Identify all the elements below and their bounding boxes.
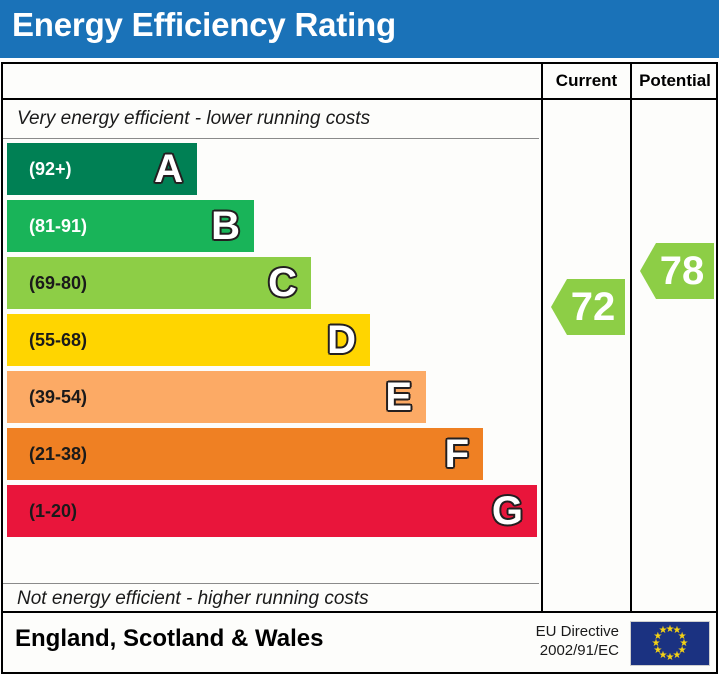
caption-rule-bottom (3, 583, 539, 584)
footer-directive: EU Directive 2002/91/EC (536, 622, 619, 660)
page-title: Energy Efficiency Rating (12, 6, 396, 44)
column-header-potential: Potential (630, 64, 718, 98)
caption-inefficient: Not energy efficient - higher running co… (17, 588, 369, 610)
eu-flag-icon: ★★★★★★★★★★★★ (630, 621, 710, 666)
column-divider-1 (541, 100, 543, 613)
band-range-f: (21-38) (29, 428, 87, 480)
band-letter-c: C (268, 263, 297, 303)
band-range-c: (69-80) (29, 257, 87, 309)
band-letter-e: E (385, 377, 412, 417)
rating-table: Current Potential Very energy efficient … (1, 62, 718, 613)
band-g: (1-20)G (7, 485, 537, 537)
band-range-b: (81-91) (29, 200, 87, 252)
band-letter-f: F (445, 434, 469, 474)
column-header-current: Current (541, 64, 630, 98)
band-a: (92+)A (7, 143, 197, 195)
potential-rating-badge: 78 (640, 243, 714, 299)
table-header-row: Current Potential (3, 64, 716, 100)
band-range-d: (55-68) (29, 314, 87, 366)
band-letter-d: D (327, 320, 356, 360)
band-d: (55-68)D (7, 314, 370, 366)
footer-region: England, Scotland & Wales (15, 625, 323, 653)
directive-line-1: EU Directive (536, 622, 619, 641)
band-range-e: (39-54) (29, 371, 87, 423)
caption-efficient: Very energy efficient - lower running co… (17, 108, 370, 130)
band-e: (39-54)E (7, 371, 426, 423)
band-f: (21-38)F (7, 428, 483, 480)
title-bar: Energy Efficiency Rating (0, 0, 719, 58)
column-divider-2 (630, 100, 632, 613)
band-c: (69-80)C (7, 257, 311, 309)
eu-star-icon: ★ (659, 626, 668, 636)
epc-certificate: Energy Efficiency Rating Current Potenti… (0, 0, 719, 675)
band-letter-g: G (492, 491, 523, 531)
directive-line-2: 2002/91/EC (536, 641, 619, 660)
band-letter-b: B (211, 206, 240, 246)
footer: England, Scotland & Wales EU Directive 2… (1, 613, 718, 674)
band-letter-a: A (154, 149, 183, 189)
band-b: (81-91)B (7, 200, 254, 252)
band-range-a: (92+) (29, 143, 72, 195)
current-rating-badge: 72 (551, 279, 625, 335)
caption-rule-top (3, 138, 539, 139)
band-range-g: (1-20) (29, 485, 77, 537)
